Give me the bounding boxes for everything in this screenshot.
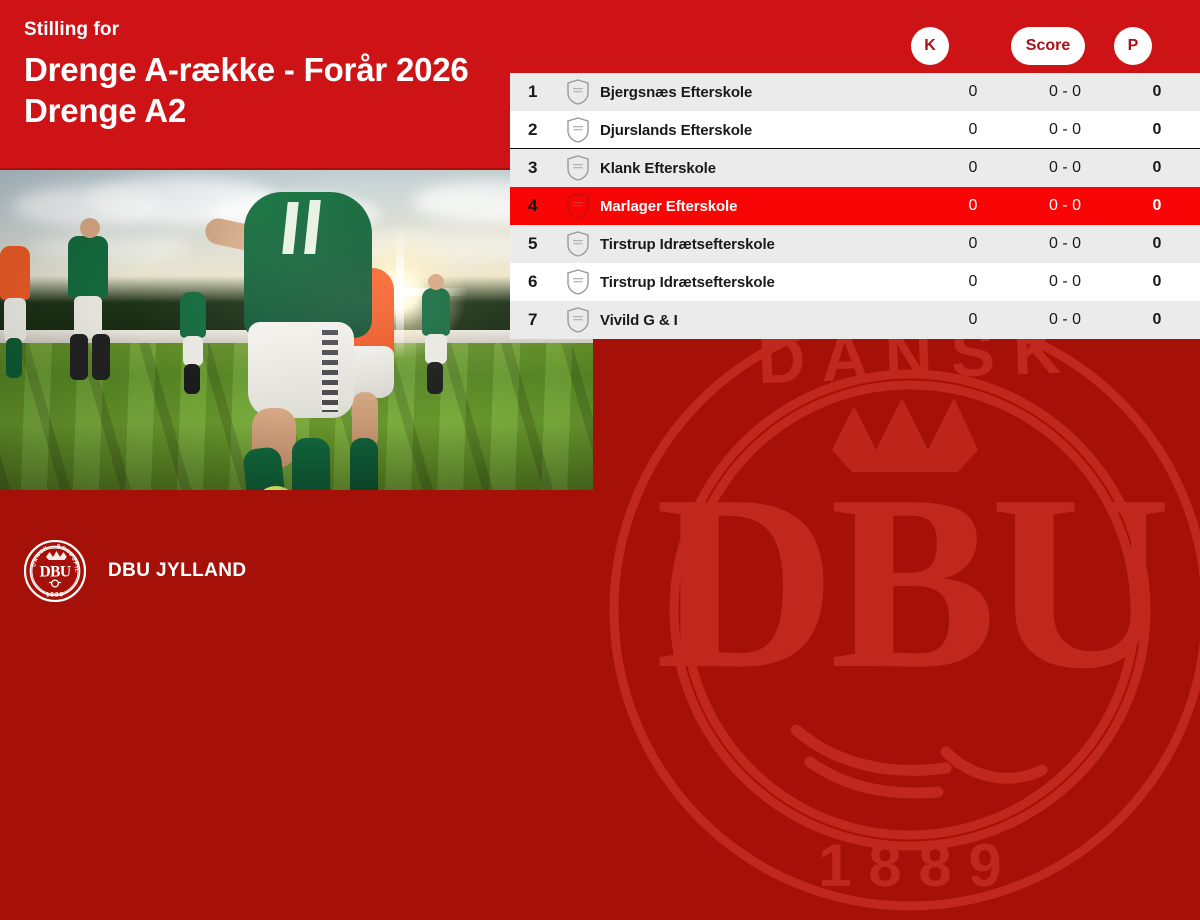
table-row[interactable]: 1 Bjergsnæs Efterskole 0 0 - 0 0 (510, 73, 1200, 111)
row-team-name: Klank Efterskole (600, 160, 930, 177)
page-title-line1: Drenge A-række - Forår 2026 (24, 51, 469, 88)
row-matches: 0 (930, 121, 1016, 139)
club-crest-icon (556, 269, 600, 295)
table-row-highlighted[interactable]: 4 Marlager Efterskole 0 0 - 0 0 (510, 187, 1200, 225)
club-crest-icon (556, 193, 600, 219)
row-matches: 0 (930, 273, 1016, 291)
row-matches: 0 (930, 197, 1016, 215)
standings-table: K Score P 1 Bjergsnæs Efterskole 0 0 - 0… (510, 73, 1200, 339)
row-team-name: Bjergsnæs Efterskole (600, 84, 930, 101)
svg-text:DBU: DBU (40, 564, 71, 581)
row-rank: 2 (510, 120, 556, 140)
column-header-score: Score (1011, 27, 1085, 65)
row-matches: 0 (930, 83, 1016, 101)
club-crest-icon (556, 79, 600, 105)
hero-photo (0, 170, 593, 490)
row-points: 0 (1114, 83, 1200, 101)
table-row[interactable]: 5 Tirstrup Idrætsefterskole 0 0 - 0 0 (510, 225, 1200, 263)
row-goals: 0 - 0 (1016, 159, 1114, 177)
row-rank: 6 (510, 272, 556, 292)
row-goals: 0 - 0 (1016, 273, 1114, 291)
row-goals: 0 - 0 (1016, 83, 1114, 101)
table-row[interactable]: 2 Djurslands Efterskole 0 0 - 0 0 (510, 111, 1200, 149)
row-rank: 5 (510, 234, 556, 254)
footer: DANSK · BOLDSPIL · UNION DBU 1889 DBU JY… (24, 540, 246, 602)
eyebrow-label: Stilling for (24, 18, 544, 42)
row-team-name: Vivild G & I (600, 312, 930, 329)
row-team-name: Tirstrup Idrætsefterskole (600, 236, 930, 253)
club-crest-icon (556, 117, 600, 143)
club-crest-icon (556, 155, 600, 181)
row-goals: 0 - 0 (1016, 121, 1114, 139)
club-crest-icon (556, 307, 600, 333)
row-goals: 0 - 0 (1016, 197, 1114, 215)
row-points: 0 (1114, 311, 1200, 329)
row-rank: 1 (510, 82, 556, 102)
title-block: Stilling for Drenge A-række - Forår 2026… (24, 18, 544, 132)
row-rank: 4 (510, 196, 556, 216)
table-row[interactable]: 7 Vivild G & I 0 0 - 0 0 (510, 301, 1200, 339)
row-points: 0 (1114, 121, 1200, 139)
row-points: 0 (1114, 273, 1200, 291)
row-team-name: Djurslands Efterskole (600, 122, 930, 139)
svg-text:1 8 8 9: 1 8 8 9 (818, 832, 1002, 899)
column-header-p: P (1114, 27, 1152, 65)
club-crest-icon (556, 231, 600, 257)
table-row[interactable]: 3 Klank Efterskole 0 0 - 0 0 (510, 149, 1200, 187)
row-matches: 0 (930, 159, 1016, 177)
row-goals: 0 - 0 (1016, 311, 1114, 329)
row-matches: 0 (930, 311, 1016, 329)
dbu-logo-icon: DANSK · BOLDSPIL · UNION DBU 1889 (24, 540, 86, 602)
poster-canvas: D A N S K 1 8 8 9 DBU (0, 0, 1200, 630)
row-team-name: Marlager Efterskole (600, 198, 930, 215)
row-points: 0 (1114, 159, 1200, 177)
table-row[interactable]: 6 Tirstrup Idrætsefterskole 0 0 - 0 0 (510, 263, 1200, 301)
row-team-name: Tirstrup Idrætsefterskole (600, 274, 930, 291)
organisation-name: DBU JYLLAND (108, 560, 246, 582)
row-rank: 7 (510, 310, 556, 330)
svg-text:1889: 1889 (46, 592, 65, 599)
table-header: K Score P (510, 27, 1200, 73)
row-matches: 0 (930, 235, 1016, 253)
column-header-k: K (911, 27, 949, 65)
row-goals: 0 - 0 (1016, 235, 1114, 253)
row-points: 0 (1114, 197, 1200, 215)
row-points: 0 (1114, 235, 1200, 253)
page-title-line2: Drenge A2 (24, 90, 544, 132)
page-title: Drenge A-række - Forår 2026 Drenge A2 (24, 49, 544, 132)
row-rank: 3 (510, 158, 556, 178)
